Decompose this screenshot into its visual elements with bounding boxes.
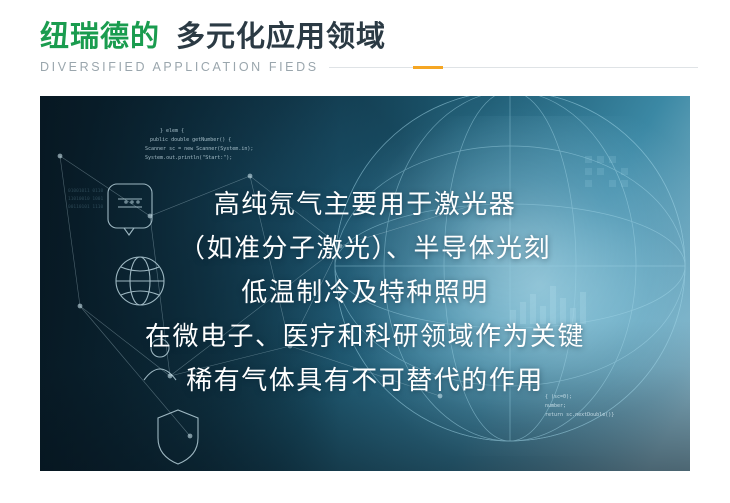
divider-line [329, 67, 698, 68]
subtitle-english: DIVERSIFIED APPLICATION FIEDS [40, 60, 319, 74]
divider [329, 66, 698, 69]
banner-image: } elem { public double getNumber() { Sca… [40, 96, 690, 471]
subtitle-row: DIVERSIFIED APPLICATION FIEDS [40, 60, 700, 74]
page-title: 纽瑞德的 多元化应用领域 [40, 22, 700, 51]
divider-accent [413, 66, 443, 69]
page-root: 纽瑞德的 多元化应用领域 DIVERSIFIED APPLICATION FIE… [0, 0, 730, 503]
banner-line-4: 在微电子、医疗和科研领域作为关键 [145, 315, 585, 359]
banner-line-2: （如准分子激光）、半导体光刻 [179, 227, 551, 271]
title-brand: 纽瑞德的 [40, 22, 160, 51]
page-header: 纽瑞德的 多元化应用领域 DIVERSIFIED APPLICATION FIE… [40, 22, 700, 74]
banner-line-1: 高纯氖气主要用于激光器 [214, 183, 517, 227]
banner-text-block: 高纯氖气主要用于激光器 （如准分子激光）、半导体光刻 低温制冷及特种照明 在微电… [40, 96, 690, 471]
title-main: 多元化应用领域 [176, 22, 386, 51]
banner-line-5: 稀有气体具有不可替代的作用 [186, 359, 544, 403]
banner-line-3: 低温制冷及特种照明 [241, 271, 489, 315]
